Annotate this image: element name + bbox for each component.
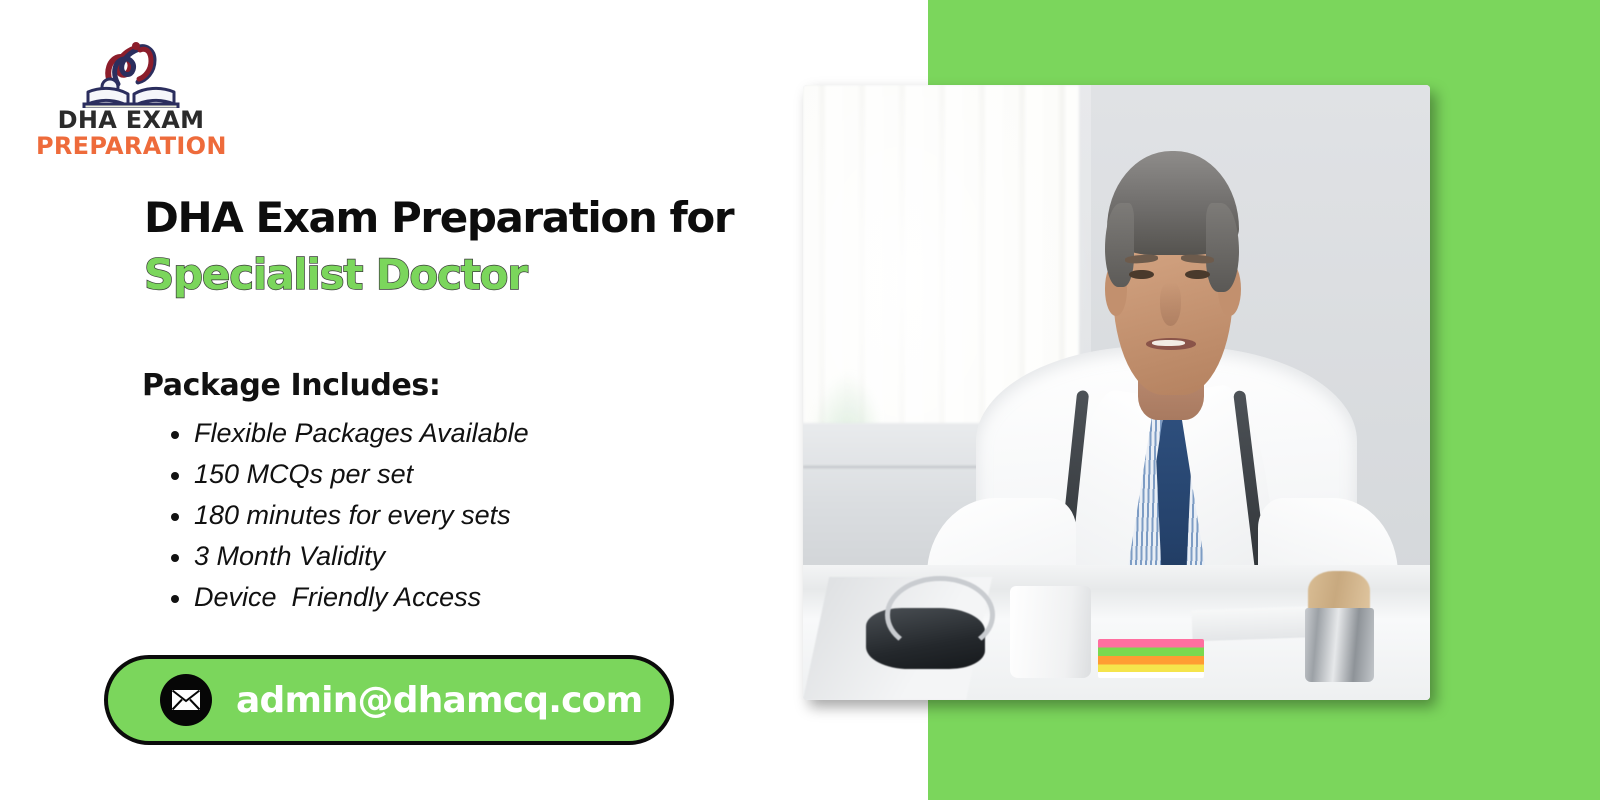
envelope-icon — [160, 674, 212, 726]
photo-inner — [803, 85, 1430, 700]
metal-cup — [1305, 608, 1374, 682]
list-item: Device Friendly Access — [194, 577, 742, 618]
blood-pressure-tube — [885, 576, 995, 654]
doctor-photo — [803, 85, 1430, 700]
brand-wordmark: DHA EXAM PREPARATION — [36, 108, 226, 158]
list-item: 3 Month Validity — [194, 536, 742, 577]
headline: DHA Exam Preparation for Specialist Doct… — [144, 196, 784, 297]
email-contact-button[interactable]: admin@dhamcq.com — [104, 655, 674, 745]
stethoscope-book-icon — [66, 24, 196, 108]
package-title: Package Includes: — [142, 368, 742, 403]
brand-name-line1: DHA EXAM — [36, 108, 226, 132]
list-item: Flexible Packages Available — [194, 413, 742, 454]
list-item: 180 minutes for every sets — [194, 495, 742, 536]
sticky-notes — [1098, 639, 1205, 679]
promo-banner: DHA EXAM PREPARATION DHA Exam Preparatio… — [0, 0, 1600, 800]
email-address: admin@dhamcq.com — [236, 680, 642, 721]
package-list: Flexible Packages Available 150 MCQs per… — [142, 413, 742, 618]
brand-logo[interactable]: DHA EXAM PREPARATION — [36, 24, 226, 158]
white-mug — [1010, 586, 1092, 678]
brand-name-line2: PREPARATION — [36, 134, 226, 158]
package-section: Package Includes: Flexible Packages Avai… — [142, 368, 742, 618]
teeth — [1152, 340, 1185, 346]
doctor-figure — [960, 134, 1374, 626]
list-item: 150 MCQs per set — [194, 454, 742, 495]
headline-line2: Specialist Doctor — [144, 253, 784, 298]
headline-line1: DHA Exam Preparation for — [144, 196, 784, 241]
